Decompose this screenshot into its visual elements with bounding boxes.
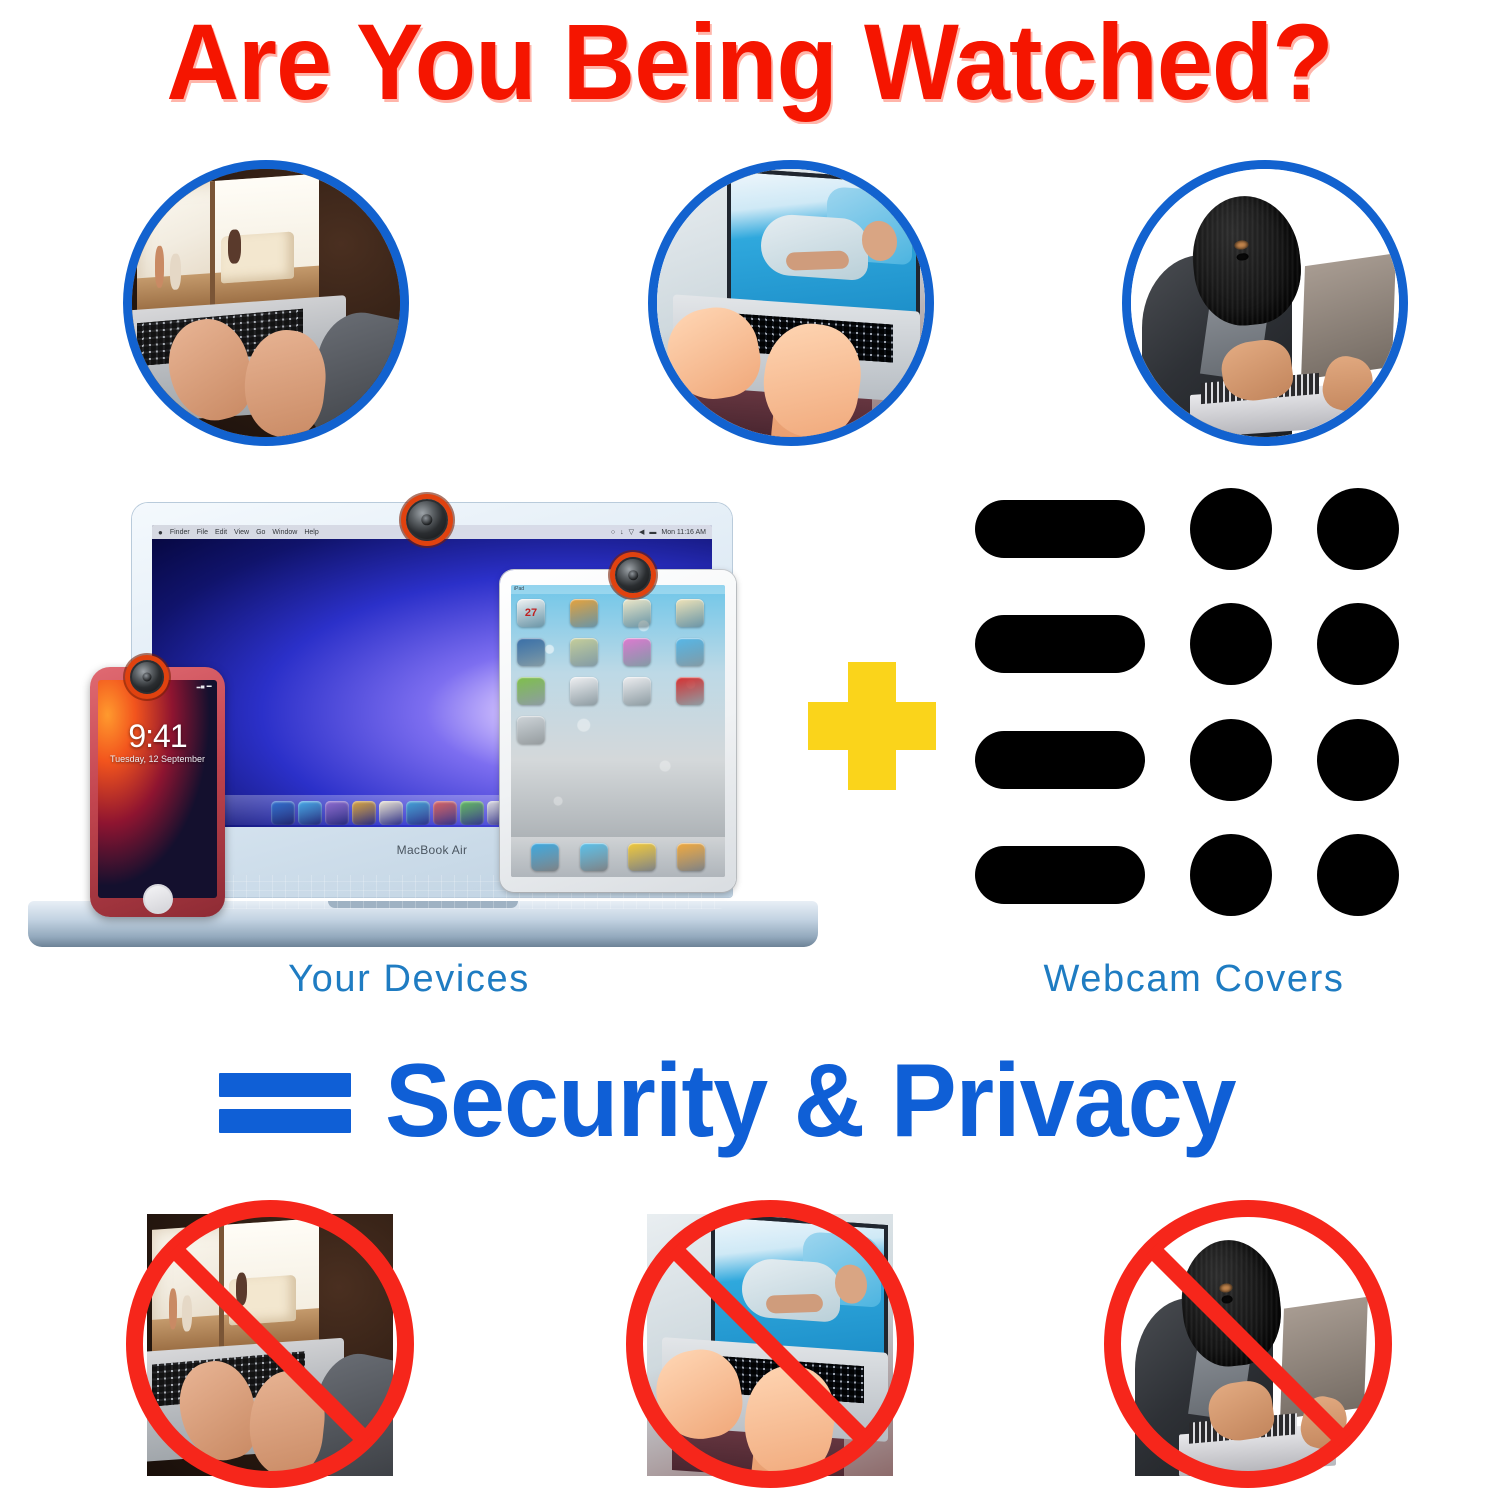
webcam-icon-macbook (406, 499, 448, 541)
webcam-cover-dot-r3c3 (1317, 719, 1399, 801)
iphone-date: Tuesday, 12 September (98, 754, 217, 764)
webcam-cover-dot-r4c3 (1317, 834, 1399, 916)
iphone-device: ▂▄ ▬ 9:41 Tuesday, 12 September (90, 667, 225, 917)
ipad-app-icon-4[interactable] (676, 599, 704, 627)
ipad-app-icon-7[interactable] (623, 638, 651, 666)
iphone-clock: 9:41 (98, 718, 217, 755)
ipad-app-icon-6[interactable] (570, 638, 598, 666)
status-icon-battery[interactable]: ▬ (649, 529, 656, 536)
ipad-app-icon-13[interactable] (517, 716, 545, 744)
ipad-app-icon-12[interactable] (676, 677, 704, 705)
sleeping-child (760, 213, 867, 281)
laptop-lid-sleeping-child (727, 169, 920, 320)
ipad-app-icon-3[interactable] (623, 599, 651, 627)
plus-icon (808, 662, 936, 790)
ipad-calendar-day: 27 (525, 607, 537, 619)
ipad-dock-icon-3[interactable] (628, 843, 656, 871)
blocked-photo-sleeping-child (620, 1196, 920, 1494)
menu-item-go[interactable]: Go (256, 529, 265, 536)
iphone-home-button[interactable] (143, 884, 173, 914)
ipad-app-icon-9[interactable] (517, 677, 545, 705)
webcam-covers-grid (975, 487, 1399, 917)
ipad-device: iPad 27 (500, 570, 736, 892)
webcam-cover-pill-r4c1 (975, 846, 1145, 904)
security-privacy-text: Security & Privacy (385, 1045, 1236, 1157)
webcam-cover-dot-r1c3 (1317, 488, 1399, 570)
ipad-dock-icon-1[interactable] (531, 843, 559, 871)
ipad-app-icon-11[interactable] (623, 677, 651, 705)
mac-dock-icon-4[interactable] (352, 801, 376, 825)
ipad-app-icon-1[interactable]: 27 (517, 599, 545, 627)
iphone-status-bar: ▂▄ ▬ (197, 683, 212, 689)
ipad-app-icon-2[interactable] (570, 599, 598, 627)
webcam-cover-dot-r1c2 (1190, 488, 1272, 570)
scene-spied-sleeping-child (657, 169, 925, 437)
status-icon-download[interactable]: ↓ (620, 529, 624, 536)
ipad-screen: iPad 27 (511, 585, 725, 877)
status-icon-wifi[interactable]: ▽ (629, 528, 634, 536)
page-title: Are You Being Watched? (52, 4, 1446, 120)
mac-dock-icon-6[interactable] (406, 801, 430, 825)
mask-mouth-hole (1236, 252, 1249, 261)
ipad-dock (511, 837, 725, 877)
equals-bar-bottom (219, 1109, 351, 1133)
your-devices-label: Your Devices (0, 958, 818, 1001)
ipad-app-icon-5[interactable] (517, 638, 545, 666)
mac-status-area: ○ ↓ ▽ ◀ ▬ Mon 11:16 AM (611, 528, 706, 536)
scene-spied-living-room (132, 169, 400, 437)
person-c (228, 229, 241, 263)
door-frame (210, 181, 215, 321)
blocked-photo-living-room (120, 1196, 420, 1494)
person-b (170, 253, 181, 290)
webcam-cover-dot-r2c3 (1317, 603, 1399, 685)
ipad-app-icon-10[interactable] (570, 677, 598, 705)
webcam-cover-pill-r1c1 (975, 500, 1145, 558)
webcam-cover-dot-r2c2 (1190, 603, 1272, 685)
webcam-cover-dot-r4c2 (1190, 834, 1272, 916)
mac-dock-icon-8[interactable] (460, 801, 484, 825)
webcam-cover-dot-r3c2 (1190, 719, 1272, 801)
menu-item-finder[interactable]: Finder (170, 529, 190, 536)
status-icon-spotlight[interactable]: ○ (611, 529, 615, 536)
menu-item-edit[interactable]: Edit (215, 529, 227, 536)
child-arm (785, 250, 849, 271)
your-devices-group: ● Finder File Edit View Go Window Help ○… (28, 495, 818, 947)
ipad-dock-icon-2[interactable] (580, 843, 608, 871)
mac-dock-icon-2[interactable] (298, 801, 322, 825)
iphone-lock-screen: ▂▄ ▬ 9:41 Tuesday, 12 September (98, 680, 217, 898)
menu-item-help[interactable]: Help (304, 529, 318, 536)
webcam-cover-pill-r2c1 (975, 615, 1145, 673)
menu-item-window[interactable]: Window (272, 529, 297, 536)
photo-circle-masked-hacker (1122, 160, 1408, 446)
equals-bar-top (219, 1073, 351, 1097)
scene-masked-hacker (1131, 169, 1399, 437)
mac-dock-icon-3[interactable] (325, 801, 349, 825)
ipad-status-bar: iPad (511, 585, 725, 594)
webcam-covers-label: Webcam Covers (1000, 958, 1388, 1001)
apple-logo-icon: ● (158, 528, 163, 537)
mac-clock: Mon 11:16 AM (661, 529, 706, 536)
photo-circle-spied-living-room (123, 160, 409, 446)
webcam-icon-iphone (130, 660, 164, 694)
ipad-app-icon-8[interactable] (676, 638, 704, 666)
ipad-dock-icon-4[interactable] (677, 843, 705, 871)
mask-eye-left (1233, 239, 1248, 249)
mac-dock-icon-5[interactable] (379, 801, 403, 825)
result-headline: Security & Privacy (0, 1045, 1499, 1157)
webcam-icon-ipad (615, 557, 651, 593)
equals-icon (219, 1063, 351, 1139)
mac-dock-icon-7[interactable] (433, 801, 457, 825)
ipad-app-grid: 27 (517, 599, 719, 744)
photo-circle-spied-sleeping-child (648, 160, 934, 446)
plus-vertical-bar (848, 662, 896, 790)
mac-dock-icon-1[interactable] (271, 801, 295, 825)
status-icon-volume[interactable]: ◀ (639, 528, 644, 536)
menu-item-file[interactable]: File (197, 529, 208, 536)
webcam-cover-pill-r3c1 (975, 731, 1145, 789)
blocked-photo-hacker (1098, 1196, 1398, 1494)
menu-item-view[interactable]: View (234, 529, 249, 536)
